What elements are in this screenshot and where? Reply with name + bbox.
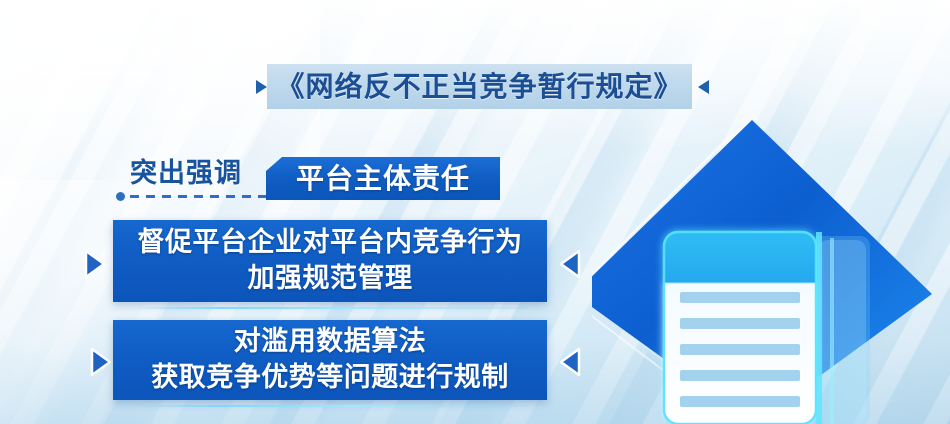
cctv-channel-logo <box>34 30 166 92</box>
statement-1-line-2: 加强规范管理 <box>248 261 413 297</box>
title-banner: 《网络反不正当竞争暂行规定》 <box>267 64 692 109</box>
statement-2-underline <box>137 405 527 407</box>
statement-bar-1: 督促平台企业对平台内竞争行为 加强规范管理 <box>113 220 547 302</box>
emphasis-highlight-text: 平台主体责任 <box>296 165 470 193</box>
document-diamond-illustration <box>592 120 950 424</box>
statement-2-line-2: 获取竞争优势等问题进行规制 <box>151 360 509 396</box>
chevron-left-icon <box>557 347 583 377</box>
chevron-right-icon <box>88 347 114 377</box>
statement-1-line-1: 督促平台企业对平台内竞争行为 <box>138 225 523 261</box>
chevron-left-icon <box>557 249 583 279</box>
emphasis-dashed-rule <box>130 195 270 198</box>
statement-bar-2: 对滥用数据算法 获取竞争优势等问题进行规制 <box>113 320 547 400</box>
triangle-left-icon <box>698 80 709 94</box>
triangle-right-icon <box>256 80 267 94</box>
chevron-right-icon <box>82 249 108 279</box>
emphasis-highlight-banner: 平台主体责任 <box>266 157 500 200</box>
emphasis-bullet-dot <box>116 192 125 201</box>
statement-2-line-1: 对滥用数据算法 <box>234 324 427 360</box>
page-title: 《网络反不正当竞争暂行规定》 <box>276 73 682 101</box>
statement-1-underline <box>137 307 527 309</box>
broadcast-graphic-stage: 《网络反不正当竞争暂行规定》 突出强调 平台主体责任 督促平台企业对平台内竞争行… <box>0 0 950 424</box>
emphasis-label: 突出强调 <box>130 160 242 187</box>
